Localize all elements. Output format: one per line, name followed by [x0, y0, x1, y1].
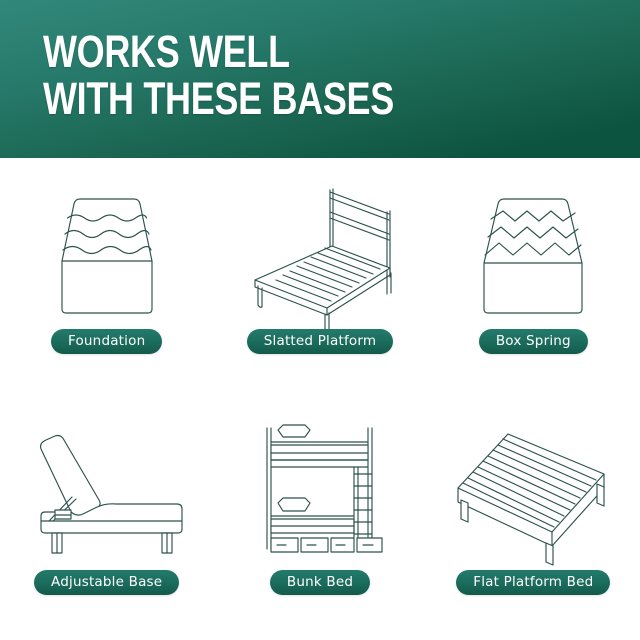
bunk-bed-icon — [225, 409, 415, 564]
base-label-bunk-bed: Bunk Bed — [270, 570, 370, 595]
box-spring-icon — [438, 168, 628, 323]
base-label-slatted-platform: Slatted Platform — [247, 329, 393, 354]
base-label-adjustable-base: Adjustable Base — [34, 570, 179, 595]
adjustable-base-icon — [12, 409, 202, 564]
base-label-foundation: Foundation — [51, 329, 162, 354]
slatted-platform-bed-icon — [225, 168, 415, 323]
base-card-bunk-bed[interactable]: Bunk Bed — [213, 399, 426, 640]
page-title: WORKS WELL WITH THESE BASES — [43, 28, 394, 122]
base-card-foundation[interactable]: Foundation — [0, 158, 213, 399]
base-card-box-spring[interactable]: Box Spring — [427, 158, 640, 399]
foundation-mattress-icon — [12, 168, 202, 323]
base-label-flat-platform-bed: Flat Platform Bed — [456, 570, 610, 595]
base-card-adjustable-base[interactable]: Adjustable Base — [0, 399, 213, 640]
header-banner: WORKS WELL WITH THESE BASES — [0, 0, 640, 158]
base-card-slatted-platform[interactable]: Slatted Platform — [213, 158, 426, 399]
bases-grid: Foundation — [0, 158, 640, 640]
flat-platform-bed-icon — [438, 409, 628, 564]
base-card-flat-platform-bed[interactable]: Flat Platform Bed — [427, 399, 640, 640]
base-label-box-spring: Box Spring — [479, 329, 588, 354]
works-well-with-these-bases-infographic: WORKS WELL WITH THESE BASES Foundation — [0, 0, 640, 640]
